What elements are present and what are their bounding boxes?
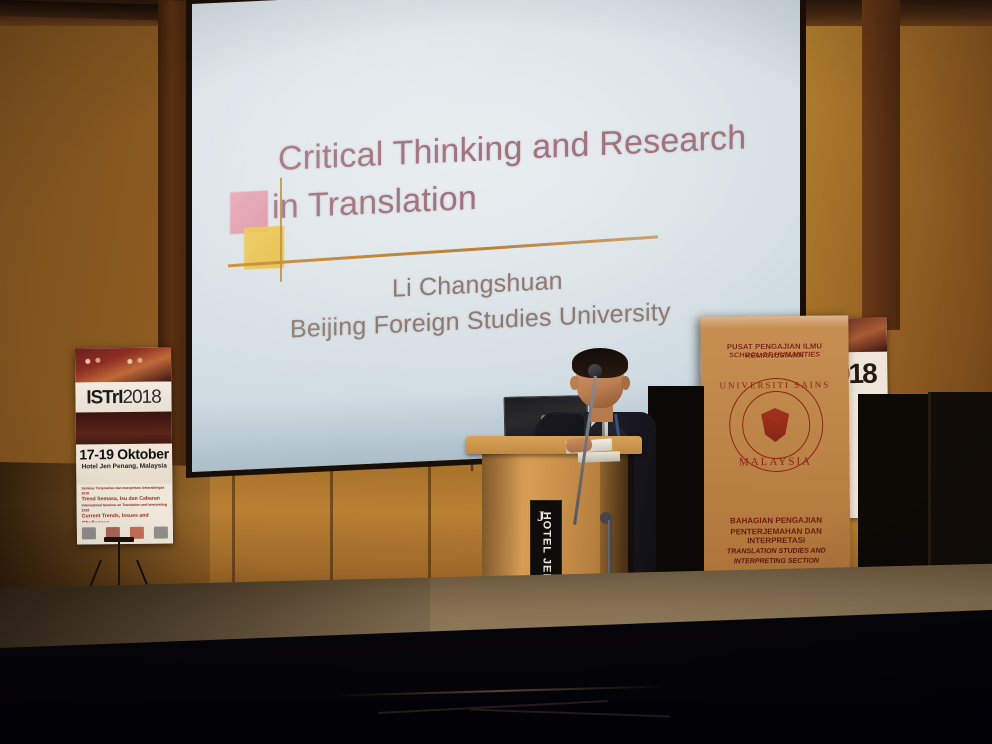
sponsor-logo-icon — [154, 527, 168, 539]
banner-photo-highlights — [81, 356, 165, 367]
usm-section-malay-2: PENTERJEMAHAN DAN INTERPRETASI — [702, 526, 850, 545]
slide-title-line-2: in Translation — [272, 179, 477, 227]
usm-section-english-1: TRANSLATION STUDIES AND — [702, 547, 850, 555]
usm-section-english-2: INTERPRETING SECTION — [702, 557, 850, 565]
slide-title-line-1: Critical Thinking and Research — [278, 118, 746, 179]
wall-right-pillar — [862, 0, 900, 330]
banner-top-sheen — [700, 315, 848, 328]
usm-section-malay-1: BAHAGIAN PENGAJIAN — [702, 515, 850, 525]
usm-seal-bottom-text: MALAYSIA — [701, 455, 849, 468]
conference-photo-scene: Critical Thinking and Research in Transl… — [0, 0, 992, 744]
usm-seal-top-text: UNIVERSITI SAINS — [701, 379, 849, 390]
banner-title-row: ISTrI2018 — [75, 382, 171, 413]
usm-header-english: SCHOOL OF HUMANITIES — [701, 351, 849, 359]
left-rollup-banner: ISTrI2018 17-19 Oktober Hotel Jen Penang… — [75, 348, 173, 545]
wainscot-seam — [232, 462, 235, 602]
hotel-jen-sign-text: HOTEL JEN — [540, 512, 552, 583]
banner-date-block: 17-19 Oktober Hotel Jen Penang, Malaysia — [76, 443, 172, 484]
speaker-ear — [570, 376, 579, 390]
banner-event-year: 2018 — [122, 386, 160, 407]
banner-location: Hotel Jen Penang, Malaysia — [76, 462, 172, 470]
banner-dates: 17-19 Oktober — [76, 445, 172, 462]
slide-horizontal-rule — [228, 235, 658, 267]
banner-band-text — [82, 416, 166, 422]
speaker-ear — [621, 376, 630, 390]
banner-event-title: ISTrI2018 — [86, 387, 161, 407]
slide-presenter-name: Li Changshuan — [392, 267, 563, 304]
banner-theme-block: Seminar Terjemahan dan Interpretasi Anta… — [76, 483, 172, 524]
banner-photo-strip — [75, 348, 171, 383]
banner-event-name: ISTrI — [86, 387, 122, 408]
slide-affiliation: Beijing Foreign Studies University — [290, 298, 671, 345]
sponsor-logo-icon — [82, 527, 96, 539]
